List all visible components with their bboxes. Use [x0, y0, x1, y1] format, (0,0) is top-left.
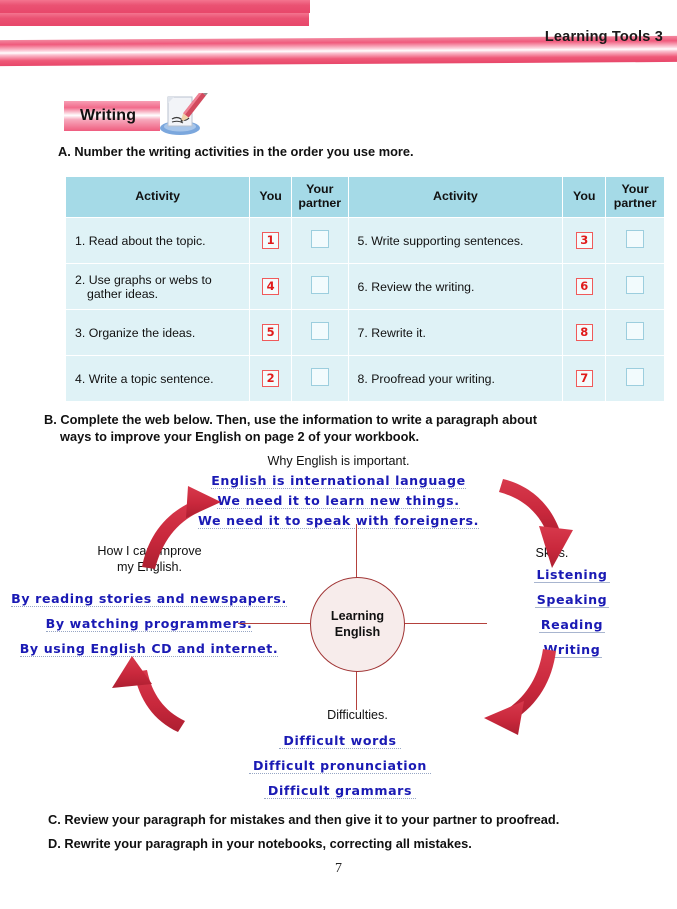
partner-cell-1[interactable] [292, 218, 349, 264]
partner-answer-box-7[interactable] [626, 322, 644, 340]
activity-text-6: Review the writing. [371, 280, 474, 294]
left-answer-row-1[interactable]: By reading stories and newspapers. [4, 590, 294, 609]
you-answer-6[interactable]: 6 [576, 278, 593, 295]
header-partner-left: Your partner [292, 177, 349, 218]
center-label-line1: Learning [331, 609, 384, 624]
bottom-answer-row-3[interactable]: Difficult grammars [110, 783, 570, 800]
header-activity-right: Activity [348, 177, 563, 218]
table-header-row: Activity You Your partner Activity You Y… [66, 177, 665, 218]
top-answer-row-1[interactable]: English is international language [0, 472, 677, 491]
activity-number-3: 3. [75, 326, 85, 340]
left-answer-3[interactable]: By using English CD and internet. [20, 641, 279, 657]
web-left-label-line1: How I can improve [97, 544, 201, 558]
learning-english-web-diagram: Why English is important. [0, 450, 677, 805]
activity-number-1: 1. [75, 234, 85, 248]
section-badge-writing: Writing [64, 101, 160, 131]
activity-number-2: 2. [75, 273, 85, 287]
activity-text-7: Rewrite it. [371, 326, 426, 340]
bottom-answer-2[interactable]: Difficult pronunciation [249, 758, 431, 774]
top-answer-1[interactable]: English is international language [211, 473, 466, 489]
bottom-answer-3[interactable]: Difficult grammars [264, 783, 416, 799]
table-row: 2. Use graphs or webs to gather ideas. 4… [66, 264, 665, 310]
partner-answer-box-2[interactable] [311, 276, 329, 294]
page-number: 7 [0, 861, 677, 877]
writing-activities-table: Activity You Your partner Activity You Y… [65, 176, 665, 402]
you-cell-7[interactable]: 8 [563, 310, 606, 356]
you-answer-8[interactable]: 7 [576, 370, 593, 387]
web-left-label: How I can improve my English. [62, 543, 237, 576]
right-answer-row-1[interactable]: Listening [487, 566, 657, 585]
you-cell-1[interactable]: 1 [250, 218, 292, 264]
you-cell-5[interactable]: 3 [563, 218, 606, 264]
table-row: 1. Read about the topic. 1 5. Write supp… [66, 218, 665, 264]
web-center-node: Learning English [310, 577, 405, 672]
you-cell-4[interactable]: 2 [250, 356, 292, 402]
partner-cell-7[interactable] [606, 310, 665, 356]
activity-text-1: Read about the topic. [89, 234, 206, 248]
activity-cell-8: 8. Proofread your writing. [348, 356, 563, 402]
table-row: 3. Organize the ideas. 5 7. Rewrite it. … [66, 310, 665, 356]
header-title: Learning Tools 3 [545, 29, 663, 45]
you-answer-1[interactable]: 1 [262, 232, 279, 249]
activity-cell-3: 3. Organize the ideas. [66, 310, 250, 356]
activity-number-7: 7. [358, 326, 368, 340]
bottom-decorative-bar-left [0, 0, 310, 13]
top-answer-3[interactable]: We need it to speak with foreigners. [198, 513, 479, 529]
right-answer-row-3[interactable]: Reading [487, 616, 657, 635]
header-partner-left-line2: partner [298, 196, 341, 210]
right-answer-3[interactable]: Reading [539, 617, 605, 633]
left-answer-2[interactable]: By watching programmers. [46, 616, 253, 632]
you-cell-3[interactable]: 5 [250, 310, 292, 356]
header-you-right: You [563, 177, 606, 218]
arrow-bottom-left [112, 656, 185, 732]
you-answer-4[interactable]: 2 [262, 370, 279, 387]
web-right-label: Skills. [497, 546, 607, 560]
partner-answer-box-1[interactable] [311, 230, 329, 248]
prompt-b-line2: ways to improve your English on page 2 o… [44, 429, 669, 446]
left-answer-row-2[interactable]: By watching programmers. [4, 615, 294, 634]
you-cell-8[interactable]: 7 [563, 356, 606, 402]
pencil-writing-icon [152, 93, 208, 137]
section-badge-label: Writing [64, 107, 136, 125]
header-activity-left: Activity [66, 177, 250, 218]
spoke-down [356, 670, 357, 710]
activity-cell-7: 7. Rewrite it. [348, 310, 563, 356]
header-partner-right-line1: Your [621, 182, 648, 196]
spoke-left [238, 623, 310, 624]
activity-number-6: 6. [358, 280, 368, 294]
partner-answer-box-3[interactable] [311, 322, 329, 340]
partner-cell-5[interactable] [606, 218, 665, 264]
bottom-answer-1[interactable]: Difficult words [279, 733, 400, 749]
bottom-decorative-bar-right [0, 13, 309, 26]
activity-text-2: Use graphs or webs to gather ideas. [87, 273, 212, 301]
you-cell-2[interactable]: 4 [250, 264, 292, 310]
header-partner-left-line1: Your [306, 182, 333, 196]
prompt-b: B. Complete the web below. Then, use the… [44, 412, 669, 446]
partner-answer-box-8[interactable] [626, 368, 644, 386]
table-row: 4. Write a topic sentence. 2 8. Proofrea… [66, 356, 665, 402]
center-label-line2: English [335, 625, 380, 640]
header-partner-right: Your partner [606, 177, 665, 218]
bottom-answer-row-1[interactable]: Difficult words [110, 733, 570, 750]
activity-number-8: 8. [358, 372, 368, 386]
spoke-right [403, 623, 487, 624]
right-answer-2[interactable]: Speaking [535, 592, 610, 608]
right-answer-row-2[interactable]: Speaking [487, 591, 657, 610]
partner-cell-4[interactable] [292, 356, 349, 402]
top-answer-row-3[interactable]: We need it to speak with foreigners. [0, 512, 677, 531]
prompt-d: D. Rewrite your paragraph in your notebo… [48, 836, 472, 853]
activity-number-5: 5. [358, 234, 368, 248]
top-answer-2[interactable]: We need it to learn new things. [217, 493, 459, 509]
bottom-answer-row-2[interactable]: Difficult pronunciation [110, 758, 570, 775]
partner-answer-box-6[interactable] [626, 276, 644, 294]
partner-cell-6[interactable] [606, 264, 665, 310]
header-partner-right-line2: partner [614, 196, 657, 210]
partner-answer-box-5[interactable] [626, 230, 644, 248]
arrow-bottom-right [484, 649, 556, 735]
web-top-label: Why English is important. [0, 454, 677, 468]
you-cell-6[interactable]: 6 [563, 264, 606, 310]
right-answer-1[interactable]: Listening [534, 567, 609, 583]
you-answer-5[interactable]: 3 [576, 232, 593, 249]
activity-cell-2: 2. Use graphs or webs to gather ideas. [66, 264, 250, 310]
spoke-up [356, 524, 357, 578]
you-answer-3[interactable]: 5 [262, 324, 279, 341]
right-answer-4[interactable]: Writing [542, 642, 603, 658]
activity-cell-4: 4. Write a topic sentence. [66, 356, 250, 402]
left-answer-1[interactable]: By reading stories and newspapers. [11, 591, 287, 607]
prompt-c: C. Review your paragraph for mistakes an… [48, 812, 559, 829]
activity-cell-5: 5. Write supporting sentences. [348, 218, 563, 264]
web-left-label-line2: my English. [117, 560, 182, 574]
activity-cell-6: 6. Review the writing. [348, 264, 563, 310]
left-answer-row-3[interactable]: By using English CD and internet. [4, 640, 294, 659]
activity-cell-1: 1. Read about the topic. [66, 218, 250, 264]
you-answer-7[interactable]: 8 [576, 324, 593, 341]
you-answer-2[interactable]: 4 [262, 278, 279, 295]
partner-cell-2[interactable] [292, 264, 349, 310]
partner-cell-3[interactable] [292, 310, 349, 356]
partner-answer-box-4[interactable] [311, 368, 329, 386]
prompt-b-line1: B. Complete the web below. Then, use the… [44, 412, 537, 427]
header-you-left: You [250, 177, 292, 218]
activity-text-5: Write supporting sentences. [371, 234, 523, 248]
web-bottom-label: Difficulties. [285, 708, 430, 722]
partner-cell-8[interactable] [606, 356, 665, 402]
activity-text-4: Write a topic sentence. [89, 372, 214, 386]
activity-number-4: 4. [75, 372, 85, 386]
activity-text-8: Proofread your writing. [371, 372, 495, 386]
top-answer-row-2[interactable]: We need it to learn new things. [0, 492, 677, 511]
prompt-a: A. Number the writing activities in the … [58, 144, 414, 161]
right-answer-row-4[interactable]: Writing [487, 641, 657, 660]
activity-text-3: Organize the ideas. [89, 326, 196, 340]
